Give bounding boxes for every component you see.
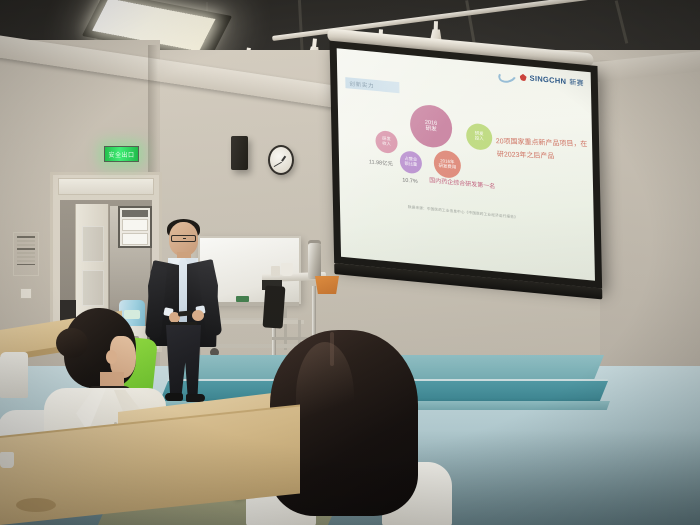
hair-sheen — [296, 342, 354, 450]
paper-cup[interactable] — [0, 452, 14, 468]
exit-sign-label: 安全出口 — [105, 147, 138, 161]
slide-value: 11.98亿元 — [369, 157, 393, 167]
meeting-room-photo: 安全出口 SINGCHN 新赛 创新实力 2016 — [0, 0, 700, 525]
bubble-chart-node: 研发 投入 — [466, 123, 493, 152]
wall-switch[interactable] — [20, 288, 32, 299]
diamond-icon — [520, 74, 527, 82]
paper-cup[interactable] — [281, 263, 293, 276]
bubble-line2: 收入 — [382, 142, 390, 148]
bubble-chart-node: 2016 研发 — [410, 103, 453, 149]
orange-cloth — [315, 276, 339, 294]
table-grommet — [16, 498, 56, 512]
bubble-line2: 研发费用 — [439, 163, 457, 170]
hair-bun — [56, 328, 88, 358]
bubble-line2: 投入 — [475, 136, 484, 142]
slide-surface: SINGCHN 新赛 创新实力 2016 研发 研发 投入 研发 收入 — [337, 48, 595, 281]
hair-part — [330, 332, 334, 366]
projection-screen: SINGCHN 新赛 创新实力 2016 研发 研发 投入 研发 收入 — [328, 44, 615, 301]
slide-caption: 国内药企综合研发第一名 — [428, 177, 496, 192]
presenter-hand — [192, 310, 204, 321]
paper-cup[interactable] — [271, 266, 280, 276]
company-logo: SINGCHN 新赛 — [497, 68, 584, 89]
slide-highlight-text: 20项国家重点新产品项目，在研2023年之后产品 — [495, 136, 589, 165]
logo-text-cn: 新赛 — [569, 77, 584, 88]
slide-section-label: 创新实力 — [349, 79, 374, 89]
slide-footnote: 数据来源：中国医药工业信息中心《中国医药工业经济运行报告》 — [408, 205, 558, 224]
swoosh-icon — [496, 67, 519, 85]
emergency-exit-sign: 安全出口 — [104, 146, 139, 162]
glasses-icon — [171, 235, 196, 242]
logo-text-en: SINGCHN — [529, 74, 566, 86]
whiteboard-marker[interactable] — [236, 296, 249, 302]
slide-section-tab: 创新实力 — [345, 77, 399, 93]
bubble-line2: 研发 — [425, 126, 436, 133]
audience-ear — [106, 350, 117, 364]
slide-value: 10.7% — [402, 177, 417, 184]
wall-speaker-icon — [231, 136, 248, 170]
bubble-chart-node: 2016年 研发费用 — [434, 149, 462, 179]
wall-poster — [13, 232, 39, 276]
hanging-bag — [263, 285, 286, 328]
bubble-line2: 额比重 — [405, 162, 418, 168]
bubble-chart-node: 占营业 额比重 — [400, 150, 422, 174]
wall-clock-icon — [268, 145, 294, 175]
bubble-chart-node: 研发 收入 — [375, 130, 397, 154]
door-transom-window — [58, 178, 154, 195]
thermos-flask[interactable] — [308, 243, 321, 279]
screen-frame: SINGCHN 新赛 创新实力 2016 研发 研发 投入 研发 收入 — [330, 41, 603, 289]
